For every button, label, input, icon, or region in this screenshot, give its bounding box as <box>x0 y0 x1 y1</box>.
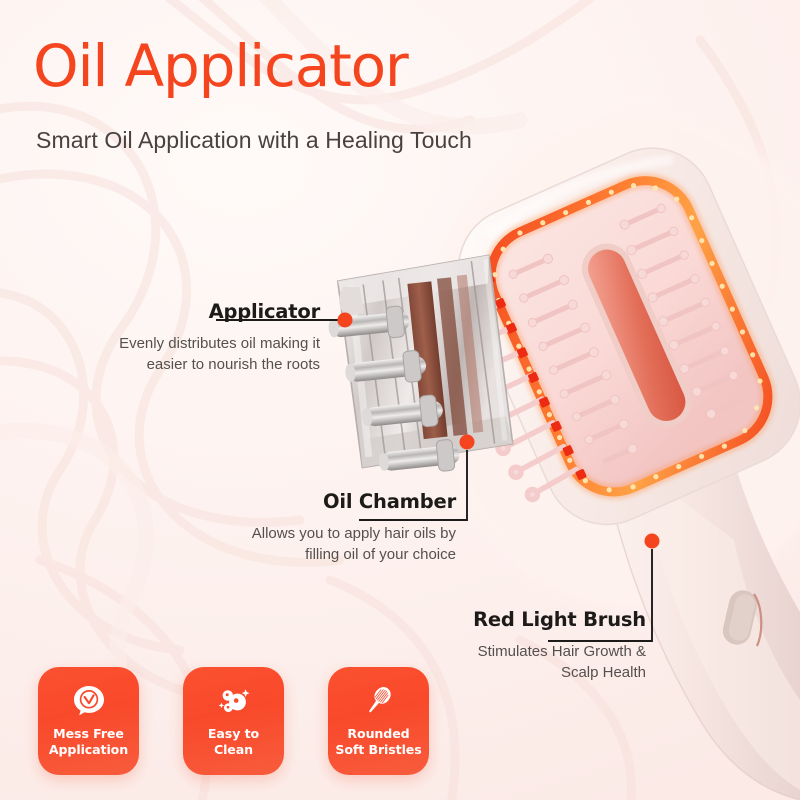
hairbrush-icon <box>361 681 397 719</box>
feature-badge-row: Mess Free Application Easy to C <box>38 667 429 775</box>
badge-rounded-soft-bristles[interactable]: Rounded Soft Bristles <box>328 667 429 775</box>
callout-oil-chamber-title: Oil Chamber <box>208 490 456 513</box>
callout-applicator: Applicator Evenly distributes oil making… <box>76 300 320 376</box>
check-bubble-icon <box>71 681 107 719</box>
badge-easy-to-clean[interactable]: Easy to Clean <box>183 667 284 775</box>
callout-red-light-brush: Red Light Brush Stimulates Hair Growth &… <box>420 608 646 684</box>
callout-oil-chamber: Oil Chamber Allows you to apply hair oil… <box>208 490 456 566</box>
callout-red-light-desc-line1: Stimulates Hair Growth & <box>420 641 646 662</box>
callout-applicator-desc-line1: Evenly distributes oil making it <box>76 333 320 354</box>
infographic-canvas: Oil Applicator Smart Oil Application wit… <box>0 0 800 800</box>
callout-applicator-desc-line2: easier to nourish the roots <box>76 354 320 375</box>
page-title: Oil Applicator <box>33 36 408 97</box>
callout-applicator-title: Applicator <box>76 300 320 323</box>
badge-mess-free-application[interactable]: Mess Free Application <box>38 667 139 775</box>
badge-easy-clean-label: Easy to Clean <box>208 726 259 758</box>
page-subtitle: Smart Oil Application with a Healing Tou… <box>36 127 472 154</box>
dot-oil-chamber <box>460 435 475 450</box>
callout-red-light-desc-line2: Scalp Health <box>420 662 646 683</box>
badge-soft-bristles-label: Rounded Soft Bristles <box>335 726 421 758</box>
bubbles-sparkle-icon <box>216 681 252 719</box>
dot-red-light <box>645 534 660 549</box>
badge-mess-free-label: Mess Free Application <box>49 726 128 758</box>
callout-oil-chamber-desc-line2: filling oil of your choice <box>208 544 456 565</box>
callout-red-light-title: Red Light Brush <box>420 608 646 631</box>
callout-oil-chamber-desc-line1: Allows you to apply hair oils by <box>208 523 456 544</box>
dot-applicator <box>338 313 353 328</box>
